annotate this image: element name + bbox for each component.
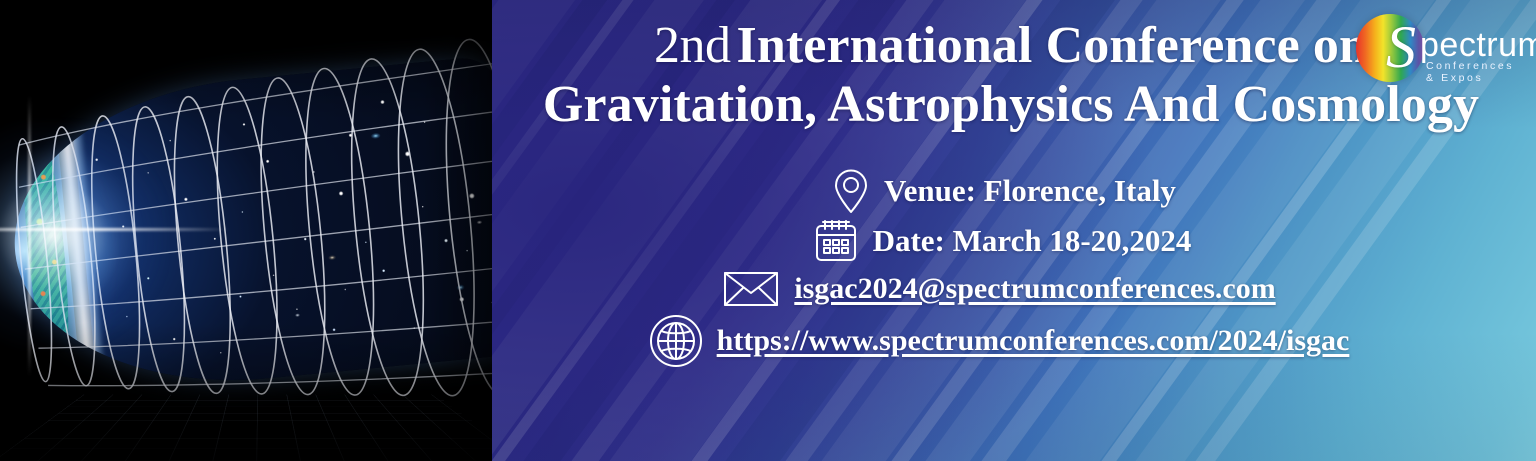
email-row[interactable]: isgac2024@spectrumconferences.com [492, 268, 1506, 310]
info-panel: 2ndInternational Conference on Gravitati… [492, 0, 1536, 461]
universe-expansion-artwork [0, 0, 492, 461]
artwork-vignette [0, 0, 492, 461]
calendar-icon [813, 218, 859, 264]
title-ordinal: 2nd [654, 17, 737, 74]
venue-row: Venue: Florence, Italy [492, 168, 1506, 214]
conference-banner: 2ndInternational Conference on Gravitati… [0, 0, 1536, 461]
logo-tagline: Conferences & Expos [1426, 60, 1528, 84]
logo-s-mark: S [1386, 16, 1416, 78]
panel-content: 2ndInternational Conference on Gravitati… [492, 0, 1536, 461]
spectrum-logo[interactable]: S pectrum Conferences & Expos [1350, 10, 1528, 86]
details-list: Venue: Florence, Italy [492, 168, 1536, 372]
venue-label: Venue: Florence, Italy [884, 173, 1176, 209]
date-row: Date: March 18-20,2024 [492, 218, 1506, 264]
location-pin-icon [832, 168, 870, 214]
email-address[interactable]: isgac2024@spectrumconferences.com [794, 272, 1275, 306]
website-row[interactable]: https://www.spectrumconferences.com/2024… [492, 314, 1506, 368]
title-line-1-text: International Conference on [737, 17, 1368, 74]
envelope-icon [722, 268, 780, 310]
date-label: Date: March 18-20,2024 [873, 223, 1192, 259]
website-url[interactable]: https://www.spectrumconferences.com/2024… [717, 324, 1350, 358]
globe-icon [649, 314, 703, 368]
